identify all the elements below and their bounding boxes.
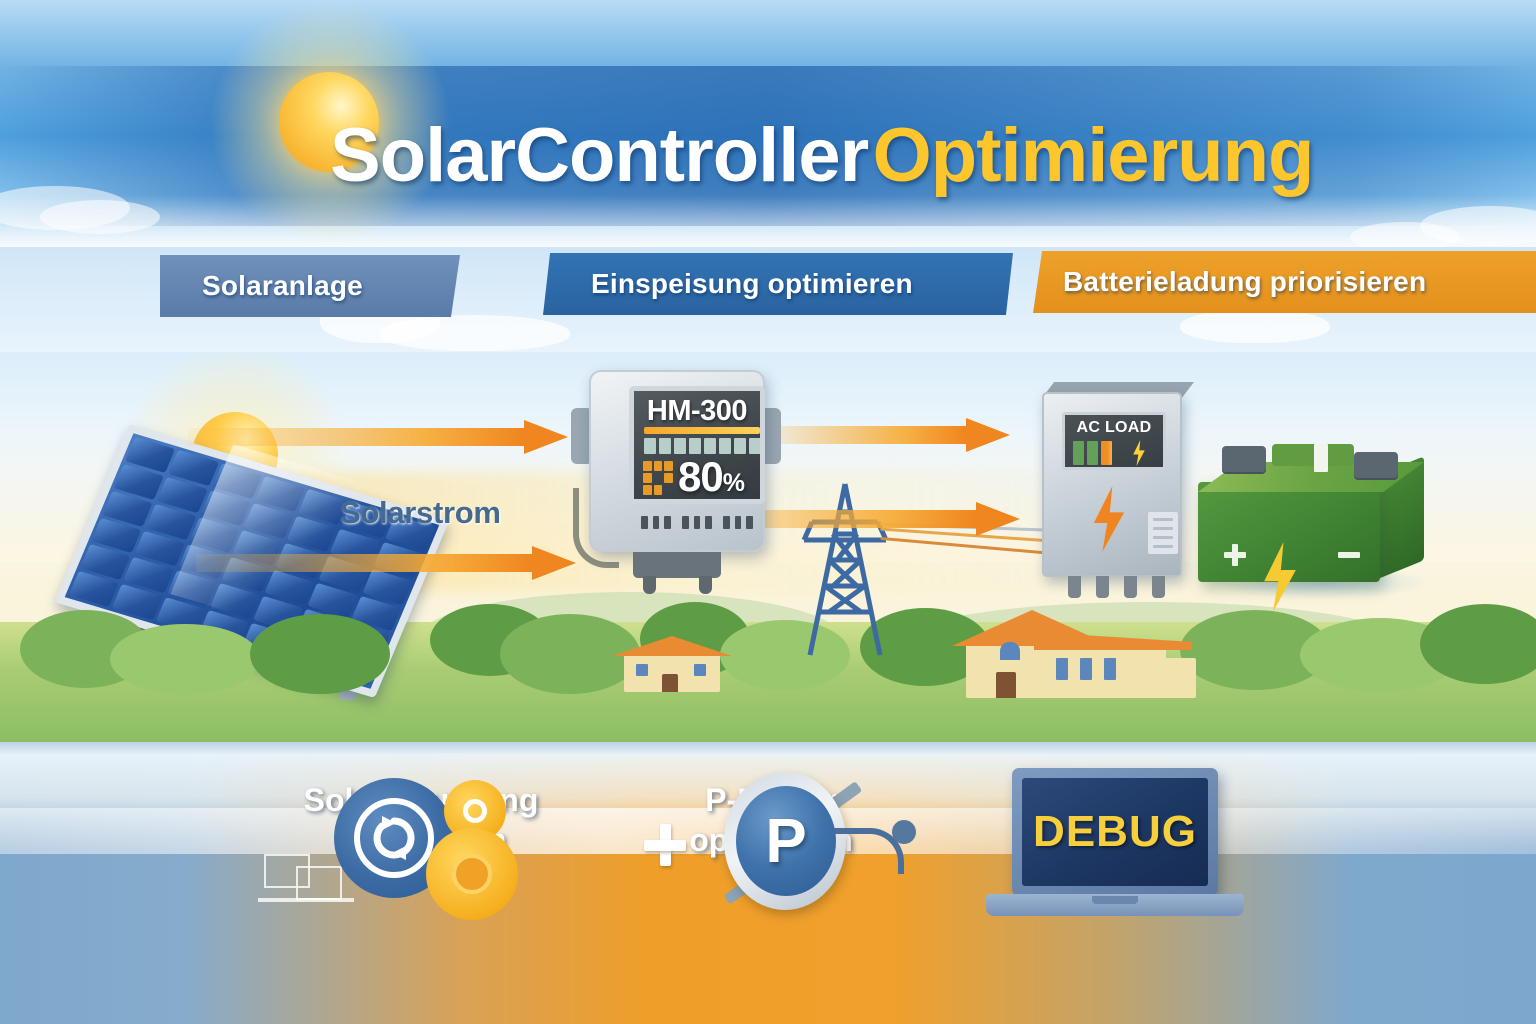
status-glyph <box>664 461 673 471</box>
vent-slot <box>694 516 701 529</box>
inverter-model-label: HM-300 <box>634 395 760 428</box>
tab-label: Einspeisung optimieren <box>591 268 913 300</box>
cloud <box>380 315 570 351</box>
badge-letter: P <box>736 786 836 896</box>
scene-divider <box>0 742 1536 754</box>
status-glyph <box>654 461 663 471</box>
vent-slot <box>735 516 742 529</box>
p-controller-badge-icon: P <box>606 766 936 916</box>
refresh-arrows-icon <box>370 814 418 862</box>
gear-yellow-large <box>426 828 518 920</box>
ac-unit-pin <box>1068 576 1081 598</box>
vent-slot <box>653 516 660 529</box>
flow-label-solarstrom: Solarstrom <box>340 495 501 531</box>
system-diagram-scene: Solarstrom HM-300 80% <box>0 352 1536 742</box>
laptop-debug-icon: DEBUG <box>950 768 1280 916</box>
arrow-solar-to-inverter-bottom <box>196 546 576 580</box>
inverter-foot <box>633 552 721 578</box>
laptop-screen-text: DEBUG <box>1022 778 1208 886</box>
segment <box>689 438 701 454</box>
inverter-body: HM-300 80% <box>589 370 765 552</box>
tab-label: Batterieladung priorisieren <box>1063 266 1426 298</box>
inverter-device[interactable]: HM-300 80% <box>571 370 781 620</box>
segment <box>659 438 671 454</box>
status-glyph <box>654 485 663 495</box>
vent-slot <box>746 516 753 529</box>
infographic-stage: SolarController Optimierung Solaranlage … <box>0 0 1536 1024</box>
segment <box>734 438 746 454</box>
status-glyph <box>643 473 652 483</box>
ac-unit-pin <box>1096 576 1109 598</box>
segment <box>749 438 761 454</box>
segment <box>719 438 731 454</box>
vent-slot <box>705 516 712 529</box>
ac-load-label: AC LOAD <box>1065 419 1163 437</box>
inverter-vents <box>641 516 753 529</box>
ac-load-bars <box>1073 441 1112 465</box>
battery-sticker <box>1314 444 1328 472</box>
page-title-main: SolarController <box>330 113 868 198</box>
tab-solaranlage[interactable]: Solaranlage <box>160 255 460 317</box>
inverter-percent-unit: % <box>723 469 744 497</box>
bush <box>110 624 260 694</box>
lightning-bolt-icon <box>1088 486 1130 552</box>
ac-unit-side-panel <box>1148 512 1178 554</box>
page-title: SolarController Optimierung <box>330 108 1430 204</box>
feature-debug[interactable]: DEBUG Debug optimieren <box>950 766 1280 860</box>
battery-cap <box>1354 452 1398 478</box>
battery-cap <box>1222 446 1266 472</box>
plus-icon <box>644 824 686 866</box>
lightning-bolt-icon <box>1258 542 1302 612</box>
house <box>612 630 732 692</box>
vent-slot <box>682 516 689 529</box>
battery-handle <box>1272 444 1354 466</box>
laptop-notch <box>1092 896 1138 904</box>
cloud <box>1180 309 1330 343</box>
status-glyph <box>664 473 673 483</box>
gears-refresh-icon <box>256 766 586 916</box>
inverter-segment-bar <box>644 438 762 454</box>
ac-unit-pin <box>1124 576 1137 598</box>
page-title-accent: Optimierung <box>873 113 1314 198</box>
arrow-solar-to-inverter-top <box>188 420 568 454</box>
inverter-pin <box>643 576 656 594</box>
feature-strip: Solarsteuerung verbessern P P-Regler opt… <box>0 754 1536 1024</box>
battery-unit[interactable] <box>1192 438 1442 598</box>
inverter-percent: 80% <box>678 453 765 501</box>
inverter-pin <box>699 576 712 594</box>
inverter-status-glyphs <box>643 461 673 495</box>
ac-unit-pin <box>1152 576 1165 598</box>
tab-einspeisung-optimieren[interactable]: Einspeisung optimieren <box>543 253 1013 315</box>
vent-slot <box>641 516 648 529</box>
vent-slot <box>723 516 730 529</box>
ac-load-unit[interactable]: AC LOAD <box>1028 382 1208 617</box>
inverter-percent-value: 80 <box>678 453 723 500</box>
segment <box>644 438 656 454</box>
ac-unit-body: AC LOAD <box>1042 392 1182 577</box>
tab-batterieladung-priorisieren[interactable]: Batterieladung priorisieren <box>1033 251 1536 313</box>
laptop-lid: DEBUG <box>1012 768 1218 896</box>
battery-front <box>1198 482 1380 582</box>
lightning-bolt-icon <box>1131 440 1147 466</box>
header-banner: SolarController Optimierung <box>0 0 1536 247</box>
segment <box>674 438 686 454</box>
tab-banner-row: Solaranlage Einspeisung optimieren Batte… <box>0 247 1536 357</box>
bush <box>250 614 390 694</box>
inverter-underline-bar <box>644 427 760 434</box>
status-glyph <box>643 461 652 471</box>
probe-knob <box>892 820 916 844</box>
battery-positive-terminal <box>1224 544 1246 566</box>
vent-slot <box>664 516 671 529</box>
arrow-inverter-to-ac <box>760 418 1010 452</box>
status-glyph <box>643 485 652 495</box>
ac-unit-display: AC LOAD <box>1062 412 1166 470</box>
feature-p-regler[interactable]: P P-Regler optimieren <box>606 766 936 860</box>
inverter-display: HM-300 80% <box>629 386 765 504</box>
segment <box>704 438 716 454</box>
battery-negative-terminal <box>1338 552 1360 558</box>
tab-label: Solaranlage <box>202 270 363 302</box>
feature-solarsteuerung[interactable]: Solarsteuerung verbessern <box>256 766 586 860</box>
